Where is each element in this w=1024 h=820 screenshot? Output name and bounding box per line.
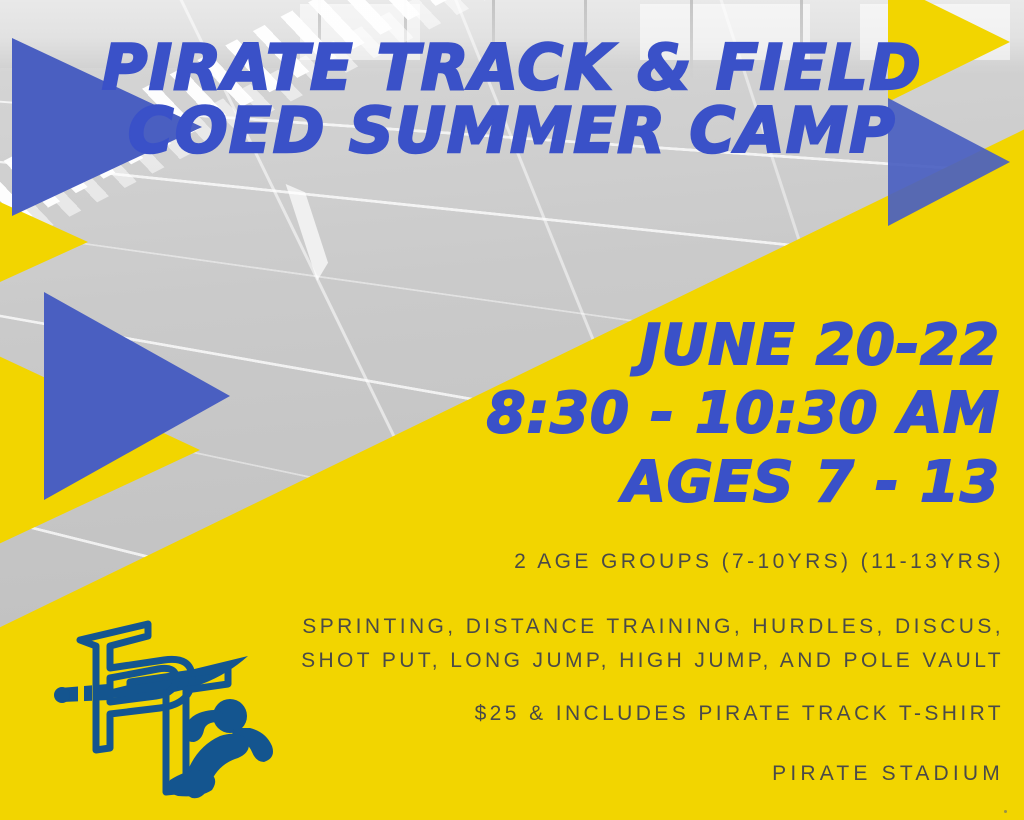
cutlass-pommel-icon (54, 687, 70, 703)
camp-time: 8:30 - 10:30 AM (380, 380, 1000, 448)
cutlass-guard-icon-2 (78, 682, 84, 704)
camp-dates: June 20-22 (380, 312, 1000, 380)
venue-text: Pirate Stadium (772, 762, 1004, 786)
events-line-1: Sprinting, Distance Training, Hurdles, D… (301, 610, 1004, 644)
headline-line-2: Coed Summer Camp (0, 99, 1024, 162)
poster-headline: Pirate Track & Field Coed Summer Camp (0, 36, 1024, 162)
headline-line-1: Pirate Track & Field (0, 36, 1024, 99)
events-list: Sprinting, Distance Training, Hurdles, D… (301, 610, 1004, 678)
corner-dot-artifact (1004, 810, 1007, 813)
events-line-2: Shot Put, Long Jump, High Jump, and Pole… (301, 644, 1004, 678)
camp-ages: Ages 7 - 13 (380, 449, 1000, 517)
price-text: $25 & Includes Pirate Track T-Shirt (475, 702, 1004, 726)
schedule-block: June 20-22 8:30 - 10:30 AM Ages 7 - 13 (380, 312, 1000, 517)
poster-canvas: Pirate Track & Field Coed Summer Camp Ju… (0, 0, 1024, 820)
age-groups-text: 2 Age Groups (7-10yrs) (11-13yrs) (514, 550, 1004, 574)
pirate-track-logo (52, 612, 292, 802)
